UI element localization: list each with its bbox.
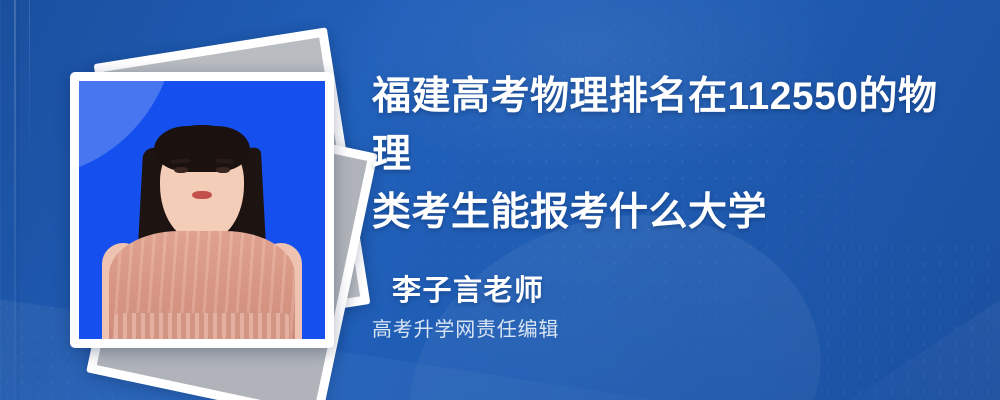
background-accent-line-left-secondary [29,0,30,170]
portrait-fringe [154,126,250,172]
author-name: 李子言老师 [392,272,559,310]
author-role: 高考升学网责任编辑 [372,316,559,344]
background-dot-grid-bottom-right [820,240,1000,400]
author-photo-stack [52,36,352,366]
background-swoosh-corner [760,260,1000,400]
portrait-dress-waistband [114,313,290,339]
page-title: 福建高考物理排名在112550的物理 类考生能报考什么大学 [372,68,972,242]
article-cover-banner: 福建高考物理排名在112550的物理 类考生能报考什么大学 李子言老师 高考升学… [0,0,1000,400]
page-title-line-2: 类考生能报考什么大学 [372,191,767,234]
portrait-mouth [192,191,212,199]
cover-title-block: 福建高考物理排名在112550的物理 类考生能报考什么大学 [372,68,972,242]
page-title-line-1: 福建高考物理排名在112550的物理 [372,75,938,176]
background-accent-line-left [14,0,16,400]
author-byline: 李子言老师 高考升学网责任编辑 [392,272,559,344]
author-photo-card [70,72,334,348]
author-portrait [79,81,325,339]
